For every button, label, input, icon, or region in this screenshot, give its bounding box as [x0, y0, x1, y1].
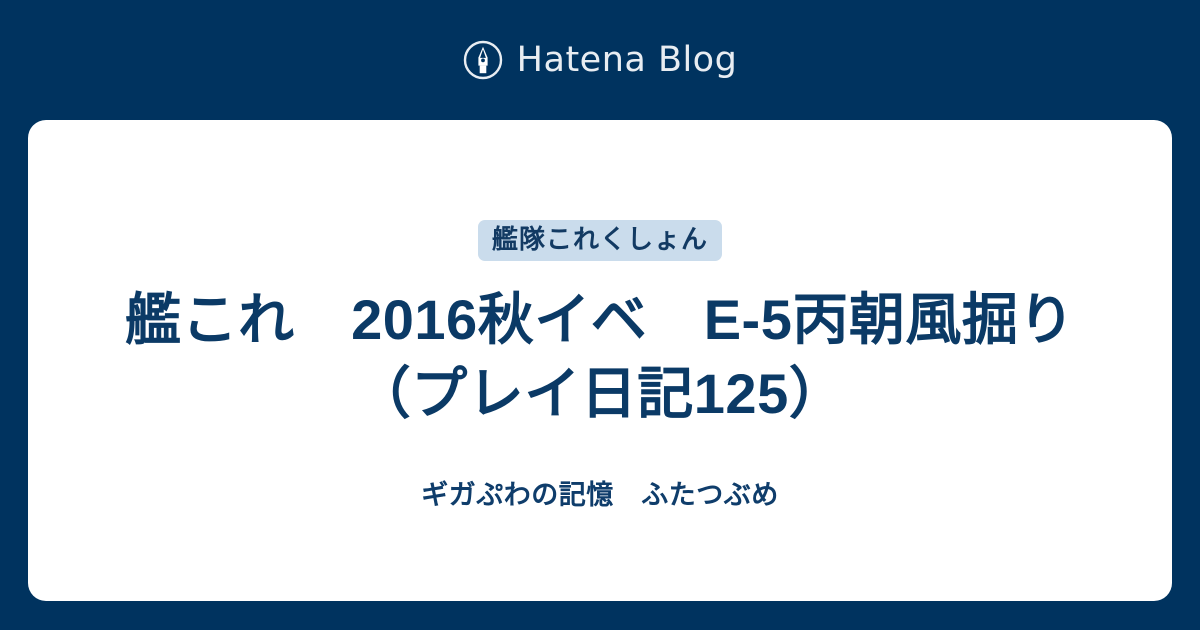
blog-name: ギガぷわの記憶 ふたつぶめ — [421, 478, 779, 513]
entry-title: 艦これ 2016秋イベ E-5丙朝風掘り（プレイ日記125） — [120, 283, 1080, 431]
hatena-pen-nib-icon — [463, 40, 503, 80]
hatena-blog-brand-name: Hatena Blog — [517, 43, 738, 78]
hatena-blog-brand-header: Hatena Blog — [0, 0, 1200, 120]
entry-category-tag[interactable]: 艦隊これくしょん — [478, 220, 722, 261]
entry-card: 艦隊これくしょん 艦これ 2016秋イベ E-5丙朝風掘り（プレイ日記125） … — [28, 120, 1172, 601]
ogp-card-canvas: Hatena Blog 艦隊これくしょん 艦これ 2016秋イベ E-5丙朝風掘… — [0, 0, 1200, 630]
entry-card-content: 艦隊これくしょん 艦これ 2016秋イベ E-5丙朝風掘り（プレイ日記125） … — [100, 120, 1100, 514]
